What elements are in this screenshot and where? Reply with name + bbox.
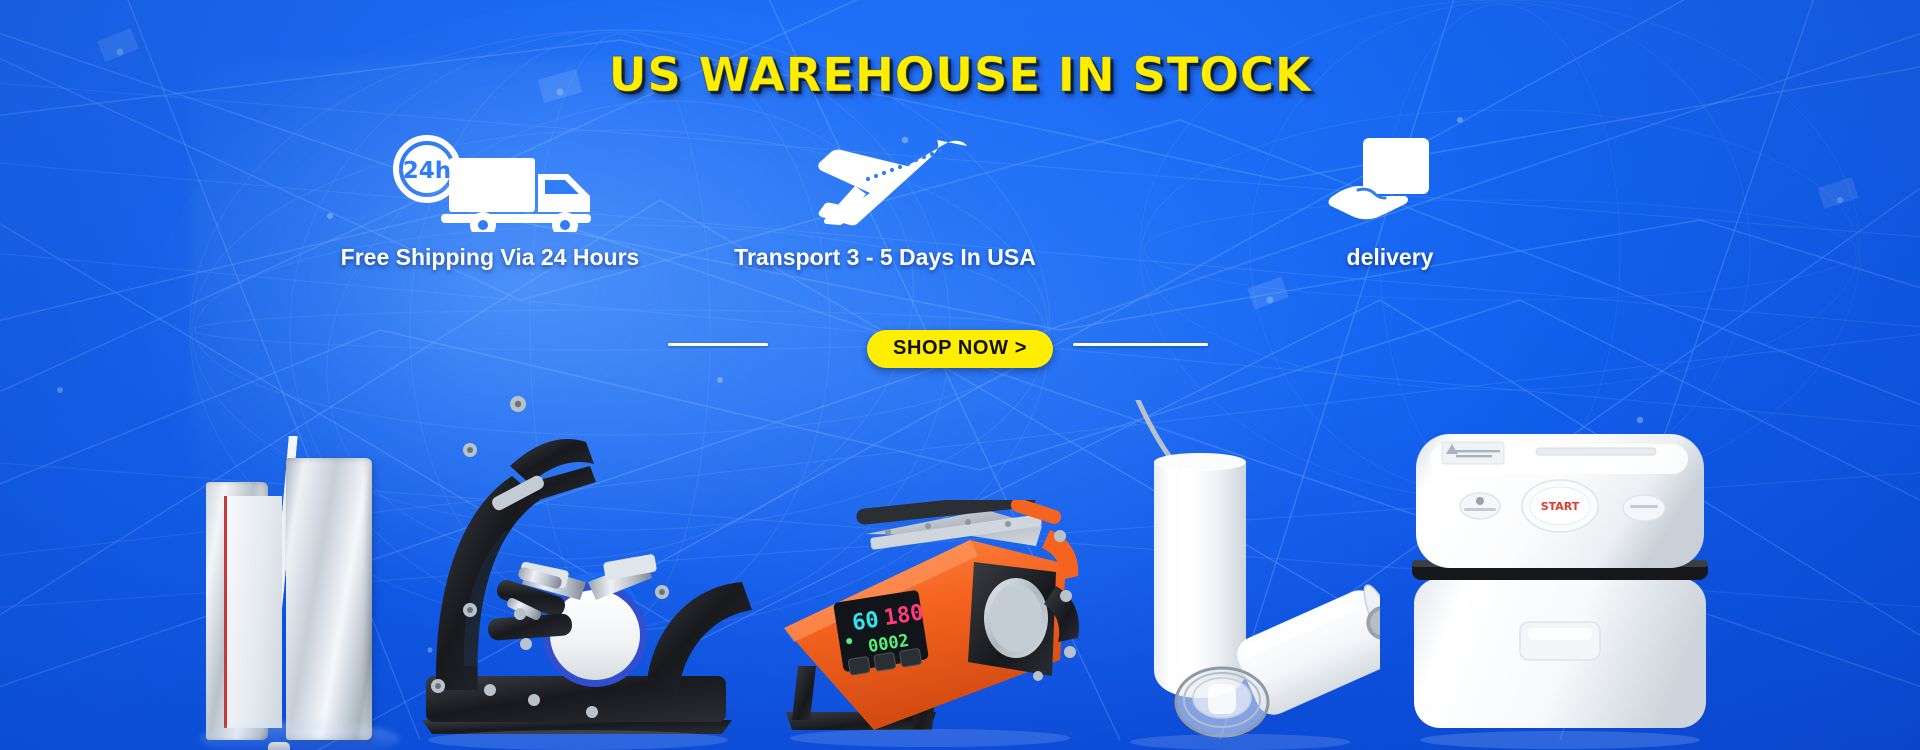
press-temperature-value: 60 xyxy=(851,607,881,636)
airplane-icon-svg xyxy=(795,132,975,232)
truck-24h-icon: 24h xyxy=(310,128,670,232)
heater-plate-front xyxy=(286,458,372,740)
promo-banner: US WAREHOUSE IN STOCK xyxy=(0,0,1920,750)
product-sublimation-tumblers[interactable] xyxy=(1120,400,1380,750)
appliance-left-button[interactable] xyxy=(1460,493,1500,519)
truck-badge-text: 24h xyxy=(403,158,451,184)
appliance-svg: START xyxy=(1400,410,1720,750)
truck-24h-icon-svg: 24h xyxy=(375,132,605,232)
features-row: 24h Free Shipping Via 24 Hours xyxy=(0,128,1920,308)
product-mug-heating-element[interactable] xyxy=(200,450,400,750)
heater-plate-face xyxy=(224,496,282,728)
feature-free-shipping: 24h Free Shipping Via 24 Hours xyxy=(310,128,670,271)
black-mug-press-svg xyxy=(400,390,760,750)
hand-holding-box-icon-svg xyxy=(1325,132,1455,232)
feature-delivery: delivery xyxy=(1260,128,1520,271)
feature-transport-time: Transport 3 - 5 Days In USA xyxy=(700,128,1070,271)
tumblers-svg xyxy=(1120,400,1380,750)
product-black-mug-heat-press[interactable] xyxy=(400,390,760,750)
feature-label: delivery xyxy=(1260,244,1520,271)
feature-label: Transport 3 - 5 Days In USA xyxy=(700,244,1070,271)
airplane-icon xyxy=(700,128,1070,232)
appliance-start-label: START xyxy=(1541,500,1580,513)
product-reflection xyxy=(200,722,400,750)
feature-label: Free Shipping Via 24 Hours xyxy=(310,244,670,271)
product-showcase: 60 180 0002 xyxy=(0,330,1920,750)
appliance-latch[interactable] xyxy=(1520,622,1600,660)
product-white-appliance[interactable]: START xyxy=(1400,410,1720,750)
orange-mug-press-svg: 60 180 0002 xyxy=(770,500,1120,750)
product-orange-mug-heat-press[interactable]: 60 180 0002 xyxy=(770,500,1120,750)
page-title: US WAREHOUSE IN STOCK xyxy=(0,48,1920,103)
hand-holding-box-icon xyxy=(1260,128,1520,232)
